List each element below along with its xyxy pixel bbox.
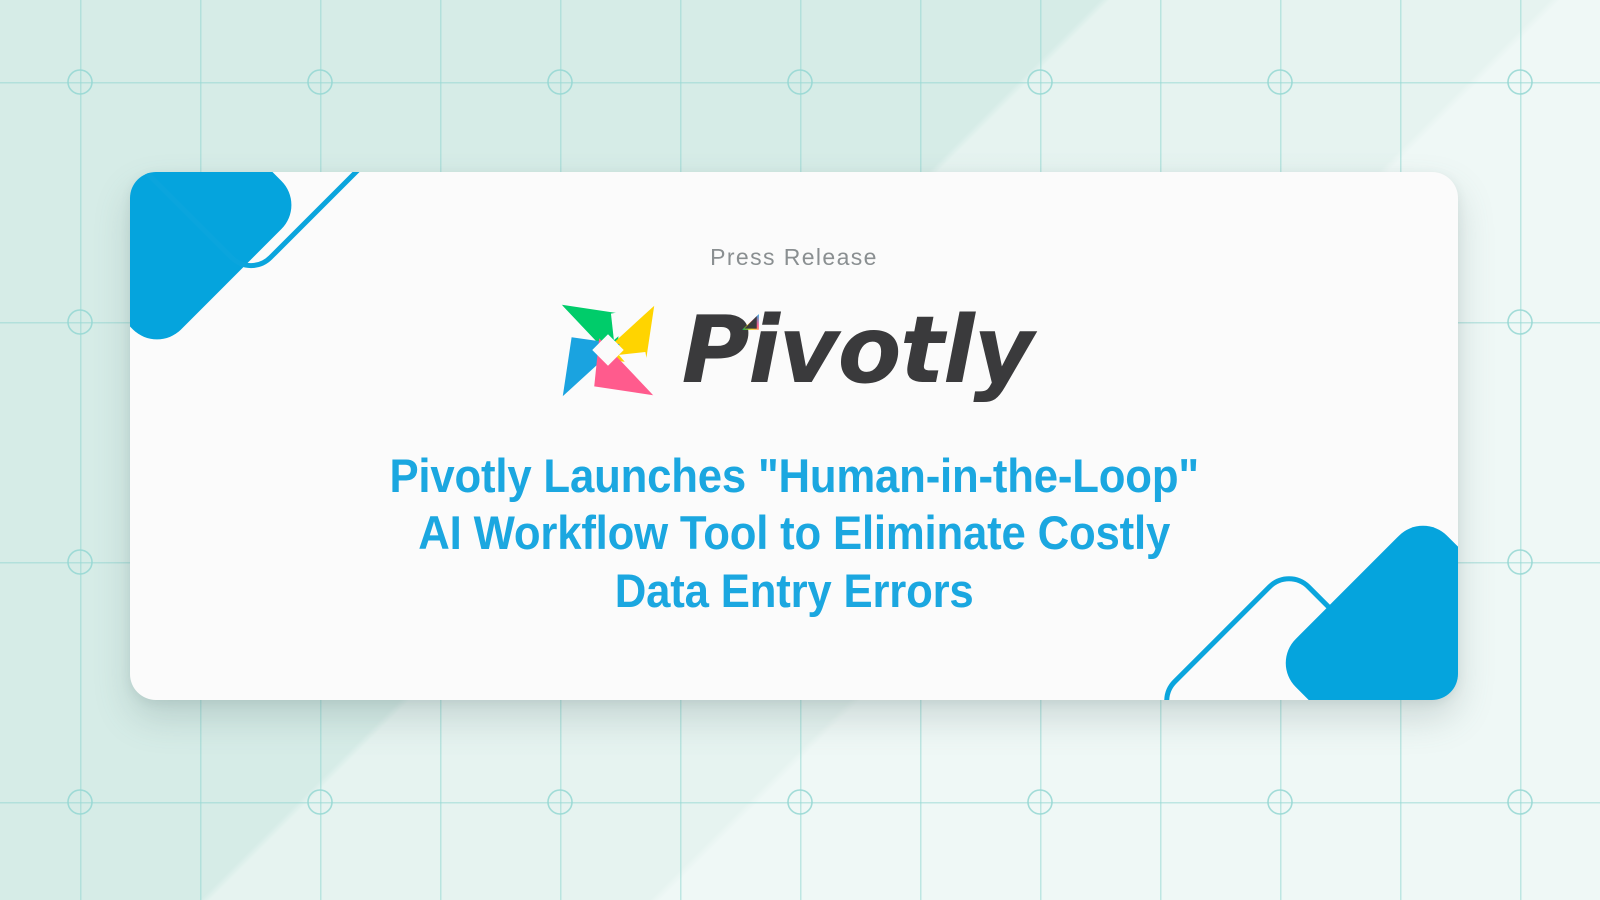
grid-node-circle-icon bbox=[308, 790, 332, 814]
grid-node-circle-icon bbox=[68, 790, 92, 814]
pivotly-pinwheel-logo-icon bbox=[549, 291, 667, 409]
grid-node-circle-icon bbox=[1508, 310, 1532, 334]
grid-node-circle-icon bbox=[788, 790, 812, 814]
headline-line-3: Data Entry Errors bbox=[389, 562, 1198, 619]
grid-node-circle-icon bbox=[1028, 790, 1052, 814]
grid-node-circle-icon bbox=[68, 310, 92, 334]
grid-node-circle-icon bbox=[68, 550, 92, 574]
brand-lockup: Pivotly bbox=[549, 291, 1038, 409]
grid-node-circle-icon bbox=[1508, 790, 1532, 814]
grid-node-circle-icon bbox=[548, 70, 572, 94]
page-title: Pivotly Launches "Human-in-the-Loop" AI … bbox=[389, 447, 1198, 619]
grid-node-circle-icon bbox=[308, 70, 332, 94]
grid-node-circle-icon bbox=[1268, 790, 1292, 814]
headline-line-1: Pivotly Launches "Human-in-the-Loop" bbox=[389, 447, 1198, 504]
rainbow-flag-accent-icon bbox=[738, 312, 763, 337]
grid-node-circle-icon bbox=[1028, 70, 1052, 94]
grid-node-circle-icon bbox=[68, 70, 92, 94]
grid-node-circle-icon bbox=[1268, 70, 1292, 94]
grid-node-circle-icon bbox=[548, 790, 572, 814]
press-release-card: Press Release bbox=[130, 172, 1458, 700]
grid-node-circle-icon bbox=[788, 70, 812, 94]
grid-node-circle-icon bbox=[1508, 70, 1532, 94]
headline-line-2: AI Workflow Tool to Eliminate Costly bbox=[389, 504, 1198, 561]
brand-wordmark: Pivotly bbox=[681, 304, 1038, 397]
card-content: Press Release bbox=[130, 172, 1458, 700]
eyebrow-label: Press Release bbox=[710, 246, 878, 269]
grid-node-circle-icon bbox=[1508, 550, 1532, 574]
